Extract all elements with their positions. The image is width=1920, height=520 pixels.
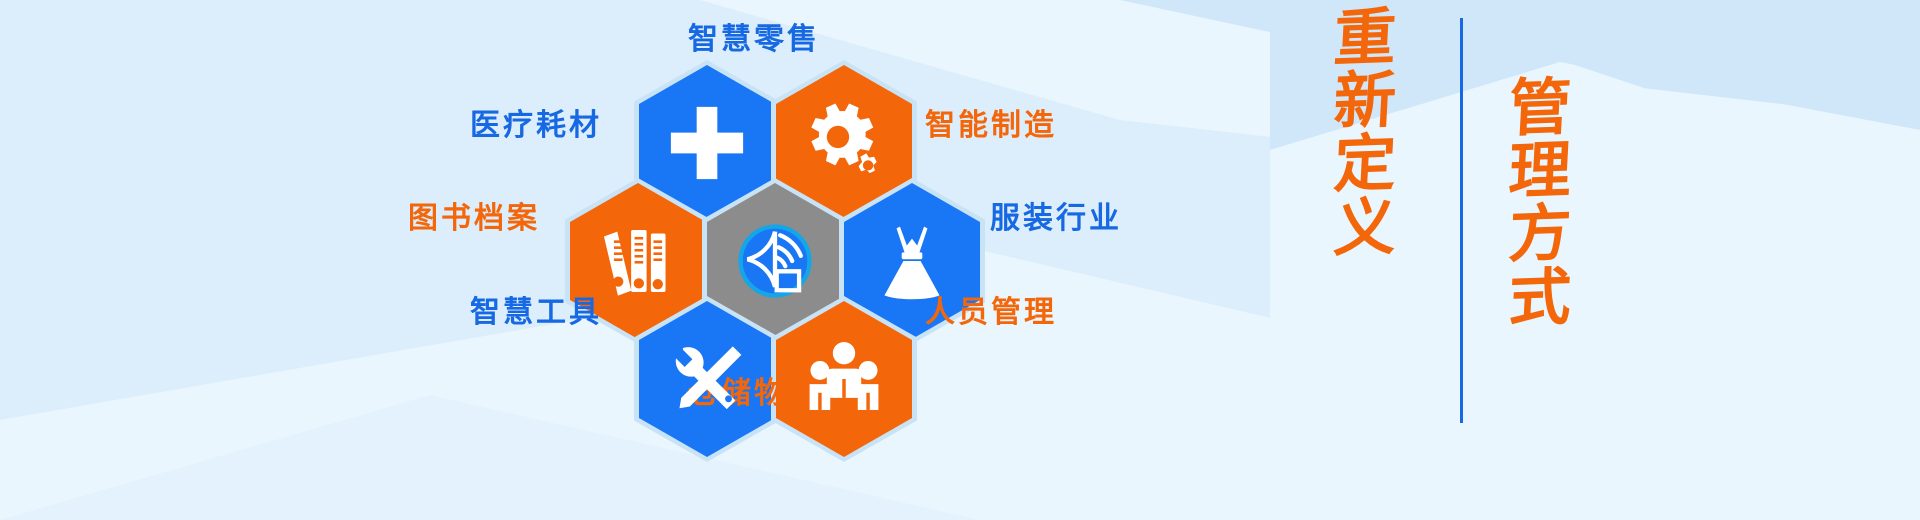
- label-apparel: 服装行业: [990, 193, 1122, 237]
- brand-logo-icon: [732, 218, 818, 304]
- wrench-screwdriver-icon: [664, 336, 750, 422]
- calligraphy-divider: [1460, 18, 1463, 423]
- calligraphy-char: 方: [1507, 201, 1572, 266]
- people-group-icon: [801, 336, 887, 422]
- banner-root: 智慧零售 医疗耗材 智能制造 图书档案 服装行业 智慧工具 人员管理 仓储物流 …: [0, 0, 1920, 520]
- label-medical: 医疗耗材: [470, 100, 602, 144]
- calligraphy-char: 理: [1507, 138, 1572, 203]
- calligraphy-char: 重: [1332, 5, 1397, 70]
- calligraphy-char: 义: [1332, 195, 1397, 260]
- label-library: 图书档案: [408, 193, 540, 237]
- calligraphy-char: 管: [1507, 75, 1572, 140]
- calligraphy-char: 定: [1332, 131, 1397, 196]
- medical-cross-icon: [664, 100, 750, 186]
- label-tools: 智慧工具: [470, 287, 602, 331]
- calligraphy-char: 式: [1507, 265, 1572, 330]
- dress-icon: [869, 218, 955, 304]
- calligraphy-column-right: 管 理 方 式: [1485, 76, 1595, 329]
- binders-icon: [595, 218, 681, 304]
- calligraphy-column-left: 重 新 定 义: [1310, 6, 1420, 259]
- calligraphy-char: 新: [1332, 68, 1397, 133]
- calligraphy-block: 重 新 定 义 管 理 方 式: [1300, 0, 1600, 440]
- label-manufacturing: 智能制造: [925, 100, 1057, 144]
- label-retail: 智慧零售: [688, 14, 820, 58]
- gears-icon: [801, 100, 887, 186]
